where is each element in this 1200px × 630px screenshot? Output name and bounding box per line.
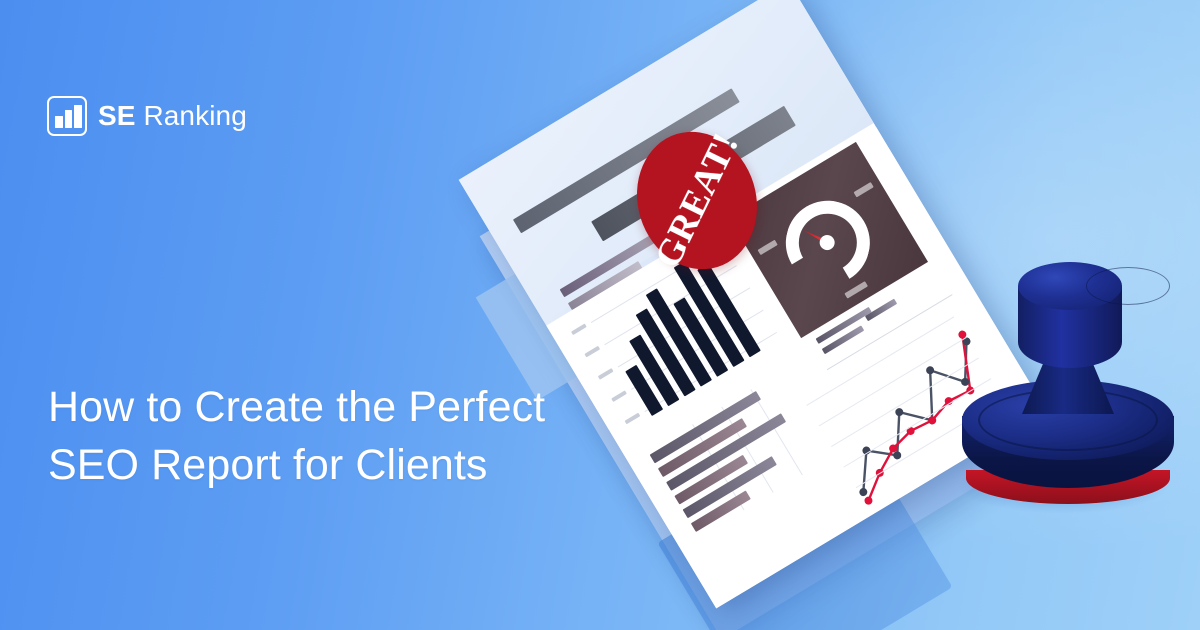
gauge-tick: [854, 182, 874, 197]
og-banner: GREAT! SE Ranking: [0, 0, 1200, 630]
great-stamp-text: GREAT!: [646, 126, 748, 274]
logo-bar-3: [74, 105, 82, 128]
gauge-tick: [844, 281, 868, 299]
page-title-line-2: SEO Report for Clients: [48, 436, 688, 494]
se-ranking-logo[interactable]: SE Ranking: [47, 96, 247, 136]
page-title: How to Create the Perfect SEO Report for…: [48, 378, 688, 495]
page-title-line-1: How to Create the Perfect: [48, 378, 688, 436]
stamp-handle-ring: [1086, 267, 1170, 305]
chart-axis-label: [584, 346, 600, 358]
logo-bar-1: [55, 116, 63, 128]
logo-bar-2: [65, 110, 73, 128]
logo-word-ranking: Ranking: [136, 100, 247, 131]
gauge-tick: [758, 240, 778, 255]
logo-word-se: SE: [98, 100, 136, 131]
report-sheet-front: [459, 0, 1047, 608]
logo-wordmark: SE Ranking: [98, 100, 247, 132]
bar-chart-logo-icon: [47, 96, 87, 136]
hero-illustration: GREAT!: [0, 0, 1200, 630]
chart-axis-label: [571, 323, 587, 335]
stamp-handle-top: [1018, 262, 1122, 310]
rubber-stamp-object: [960, 262, 1190, 532]
